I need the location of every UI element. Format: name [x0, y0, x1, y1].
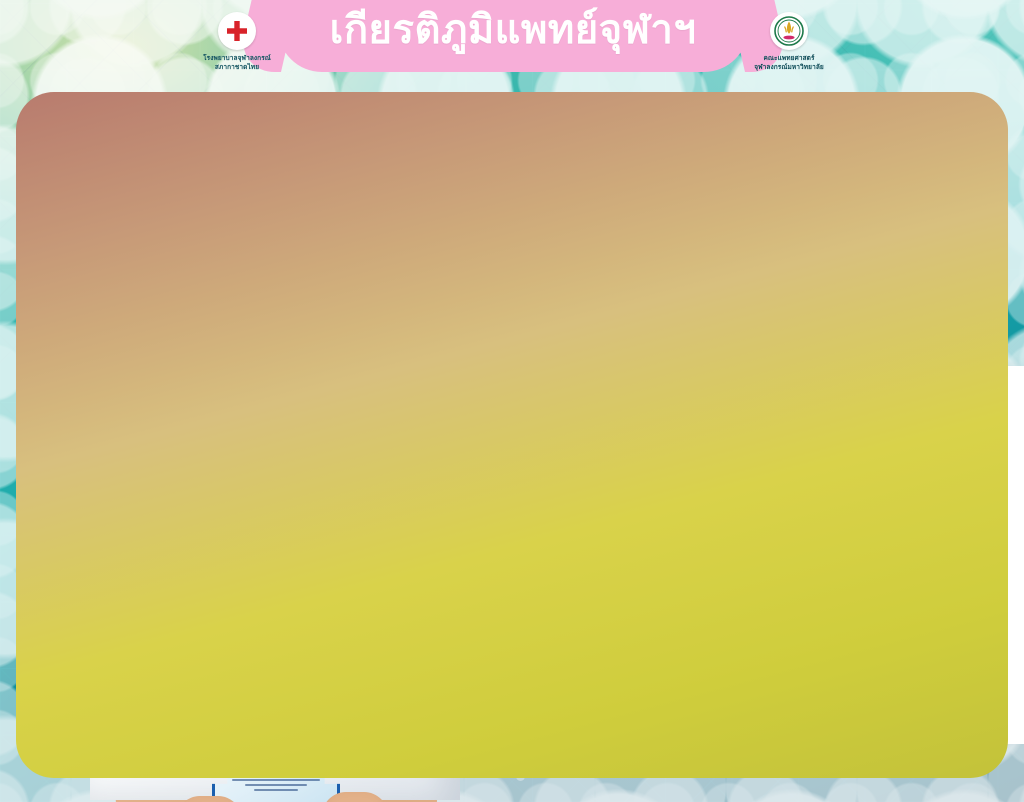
competition-line-3-pre: Competition; 14 — [589, 586, 746, 609]
logo-right-line2: จุฬาลงกรณ์มหาวิทยาลัย — [728, 63, 850, 72]
decor-dot — [820, 206, 829, 215]
recipient-year: นิสิตแพทย์ ชั้นปีที่ 3 — [478, 429, 998, 461]
banner-title: เกียรติภูมิแพทย์จุฬาฯ — [330, 10, 697, 56]
award-panel: นสพ.ภฤศ กาญจนาภรณ์ นิสิตแพทย์ ชั้นปีที่ … — [452, 366, 1024, 744]
plaque-engraved-text — [222, 756, 330, 794]
logo-left-line2: สภากาชาดไทย — [176, 63, 298, 72]
eye-right — [292, 320, 318, 331]
advisor-line-1: อาจารย์ที่ปรึกษา อ.ดร.พญ.กรวลี มีศิลปวิก… — [478, 646, 998, 670]
received-label: ได้รับรางวัล — [478, 461, 998, 493]
award-title: Gold medal with Highest Score — [478, 497, 998, 528]
host-institution: จาก คณะแพทยศาสตร์ศิริราชพยาบาล มหาวิทยาล… — [478, 614, 998, 646]
logo-chulalongkorn-hospital: โรงพยาบาลจุฬาลงกรณ์ สภากาชาดไทย — [176, 12, 298, 73]
logo-right-caption: คณะแพทยศาสตร์ จุฬาลงกรณ์มหาวิทยาลัย — [728, 54, 850, 73]
competition-line-3-post: SIMPIC 2025 — [759, 586, 887, 609]
logo-faculty-of-medicine: คณะแพทยศาสตร์ จุฬาลงกรณ์มหาวิทยาลัย — [728, 12, 850, 73]
competition-line-1: ในการแข่งขันตอบปัญหา Siriraj Internation… — [478, 531, 998, 558]
logo-right-line1: คณะแพทยศาสตร์ — [728, 54, 850, 63]
hair-side-right — [334, 270, 360, 356]
necktie-knot — [258, 432, 302, 466]
red-cross-icon — [218, 12, 256, 50]
poster-canvas: SIMPIC SIMPIC โรงพยาบาลจุฬาลงกรณ์ สภากาช… — [0, 0, 1024, 802]
decor-dot — [516, 772, 525, 781]
advisor-line-2: นพ.อชิตพล ทองคำ นพ.ธนาภูมิ ทวีผล นพ.หัฐพ… — [478, 670, 998, 694]
hair-side-left — [200, 270, 226, 356]
mouth — [256, 370, 302, 379]
student-photo: SIMPIC SIMPIC — [60, 120, 480, 780]
plaque-logo-text: SIMPIC — [246, 716, 308, 750]
header-banner: เกียรติภูมิแพทย์จุฬาฯ — [278, 0, 748, 72]
competition-line-2: Microbiology, Parasitology and Immunolog… — [478, 558, 998, 585]
advisor-line-3: นพ.ปิยวรรธน์ จงประดับเกียรติ และพญ.นสรธั… — [478, 694, 998, 718]
nose — [269, 334, 285, 360]
ordinal-suffix: th — [746, 586, 758, 600]
medal-label: SIMPIC — [258, 644, 310, 657]
logo-left-line1: โรงพยาบาลจุฬาลงกรณ์ — [176, 54, 298, 63]
recipient-name: นสพ.ภฤศ กาญจนาภรณ์ — [478, 384, 998, 428]
chulalongkorn-emblem-icon — [770, 12, 808, 50]
decor-dot — [636, 120, 647, 131]
logo-left-caption: โรงพยาบาลจุฬาลงกรณ์ สภากาชาดไทย — [176, 54, 298, 73]
decor-dot — [944, 178, 952, 186]
eye-left — [232, 320, 258, 331]
competition-line-3: Competition; 14th SIMPIC 2025 — [478, 585, 998, 612]
